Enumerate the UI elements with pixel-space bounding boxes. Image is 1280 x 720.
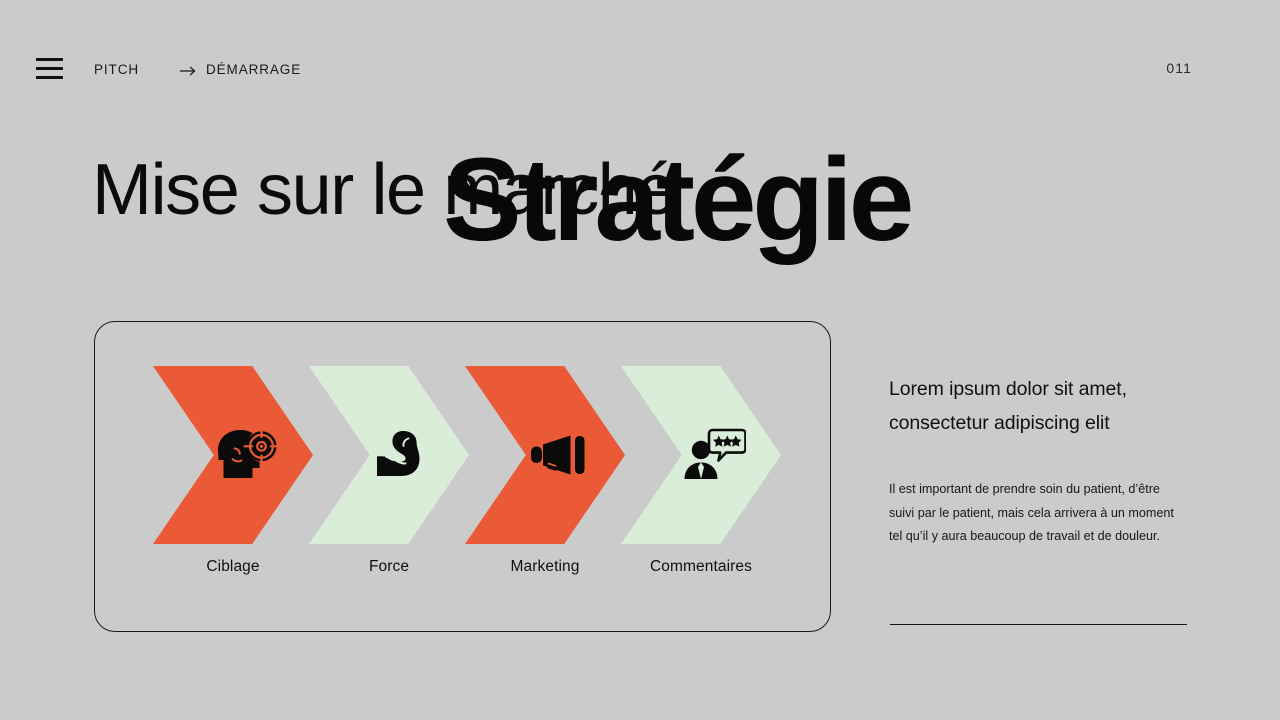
flexed-bicep-icon <box>309 366 469 544</box>
arrow-right-icon <box>180 65 197 77</box>
megaphone-icon <box>465 366 625 544</box>
step-label-2: Force <box>309 558 469 576</box>
nav-item-demarrage[interactable]: DÉMARRAGE <box>180 62 301 77</box>
step-label-3: Marketing <box>465 558 625 576</box>
right-body-text: Il est important de prendre soin du pati… <box>889 478 1186 549</box>
steps-card: Ciblage Force <box>94 321 831 632</box>
top-bar: PITCH DÉMARRAGE 011 <box>0 0 1280 110</box>
step-item-4[interactable]: Commentaires <box>621 322 796 577</box>
step-label-1: Ciblage <box>153 558 313 576</box>
hamburger-line <box>36 76 63 79</box>
hamburger-line <box>36 67 63 70</box>
page-title-bold: Stratégie <box>443 135 910 265</box>
head-target-icon <box>153 366 313 544</box>
step-item-1[interactable]: Ciblage <box>153 322 328 577</box>
right-column: Lorem ipsum dolor sit amet, consectetur … <box>889 372 1189 549</box>
page-number: 011 <box>1166 60 1192 76</box>
right-heading: Lorem ipsum dolor sit amet, consectetur … <box>889 372 1189 440</box>
step-item-3[interactable]: Marketing <box>465 322 640 577</box>
steps-container: Ciblage Force <box>95 322 832 633</box>
step-label-4: Commentaires <box>621 558 781 576</box>
step-item-2[interactable]: Force <box>309 322 484 577</box>
brand-label[interactable]: PITCH <box>94 62 139 77</box>
divider-rule <box>890 624 1187 625</box>
hamburger-menu-icon[interactable] <box>36 58 63 79</box>
nav-item-demarrage-label: DÉMARRAGE <box>206 62 301 77</box>
person-review-stars-icon <box>621 366 781 544</box>
hamburger-line <box>36 58 63 61</box>
page-title: Mise sur le marché Stratégie <box>0 140 1280 270</box>
slide-root: PITCH DÉMARRAGE 011 Mise sur le marché S… <box>0 0 1280 720</box>
